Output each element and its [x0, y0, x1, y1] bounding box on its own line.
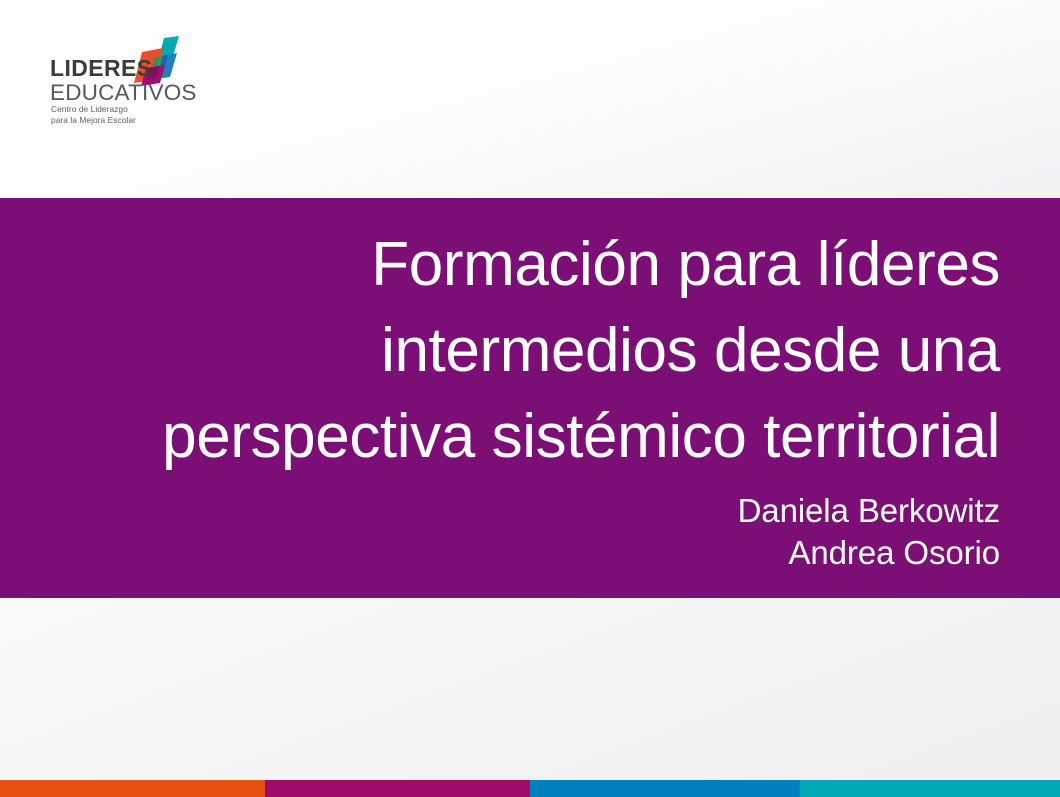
logo-wordmark: LIDERES EDUCATIVOS	[50, 57, 180, 105]
logo-tagline-line2: para la Mejora Escolar	[51, 115, 136, 126]
footer-color-bar	[0, 780, 1060, 797]
title-banner: Formación para líderes intermedios desde…	[0, 198, 1060, 598]
page-title-line-1: Formación para líderes	[60, 222, 1000, 308]
author-list: Daniela Berkowitz Andrea Osorio	[60, 490, 1000, 574]
slide-header-area: LIDERES EDUCATIVOS Centro de Liderazgo p…	[0, 0, 1060, 198]
author-name: Andrea Osorio	[60, 532, 1000, 574]
logo-wordmark-line2: EDUCATIVOS	[50, 81, 180, 105]
page-title-line-2: intermedios desde una	[60, 308, 1000, 394]
page-title-line-3: perspectiva sistémico territorial	[60, 394, 1000, 480]
logo-wordmark-line1: LIDERES	[50, 57, 180, 80]
footer-bar-segment-blue	[530, 780, 800, 797]
logo-tagline: Centro de Liderazgo para la Mejora Escol…	[51, 104, 136, 125]
logo-tagline-line1: Centro de Liderazgo	[51, 104, 136, 115]
title-block: Formación para líderes intermedios desde…	[60, 222, 1000, 574]
presentation-slide: LIDERES EDUCATIVOS Centro de Liderazgo p…	[0, 0, 1060, 797]
lideres-educativos-logo: LIDERES EDUCATIVOS Centro de Liderazgo p…	[50, 36, 280, 136]
author-name: Daniela Berkowitz	[60, 490, 1000, 532]
footer-bar-segment-teal	[800, 780, 1060, 797]
footer-bar-segment-magenta	[265, 780, 530, 797]
footer-bar-segment-orange	[0, 780, 265, 797]
